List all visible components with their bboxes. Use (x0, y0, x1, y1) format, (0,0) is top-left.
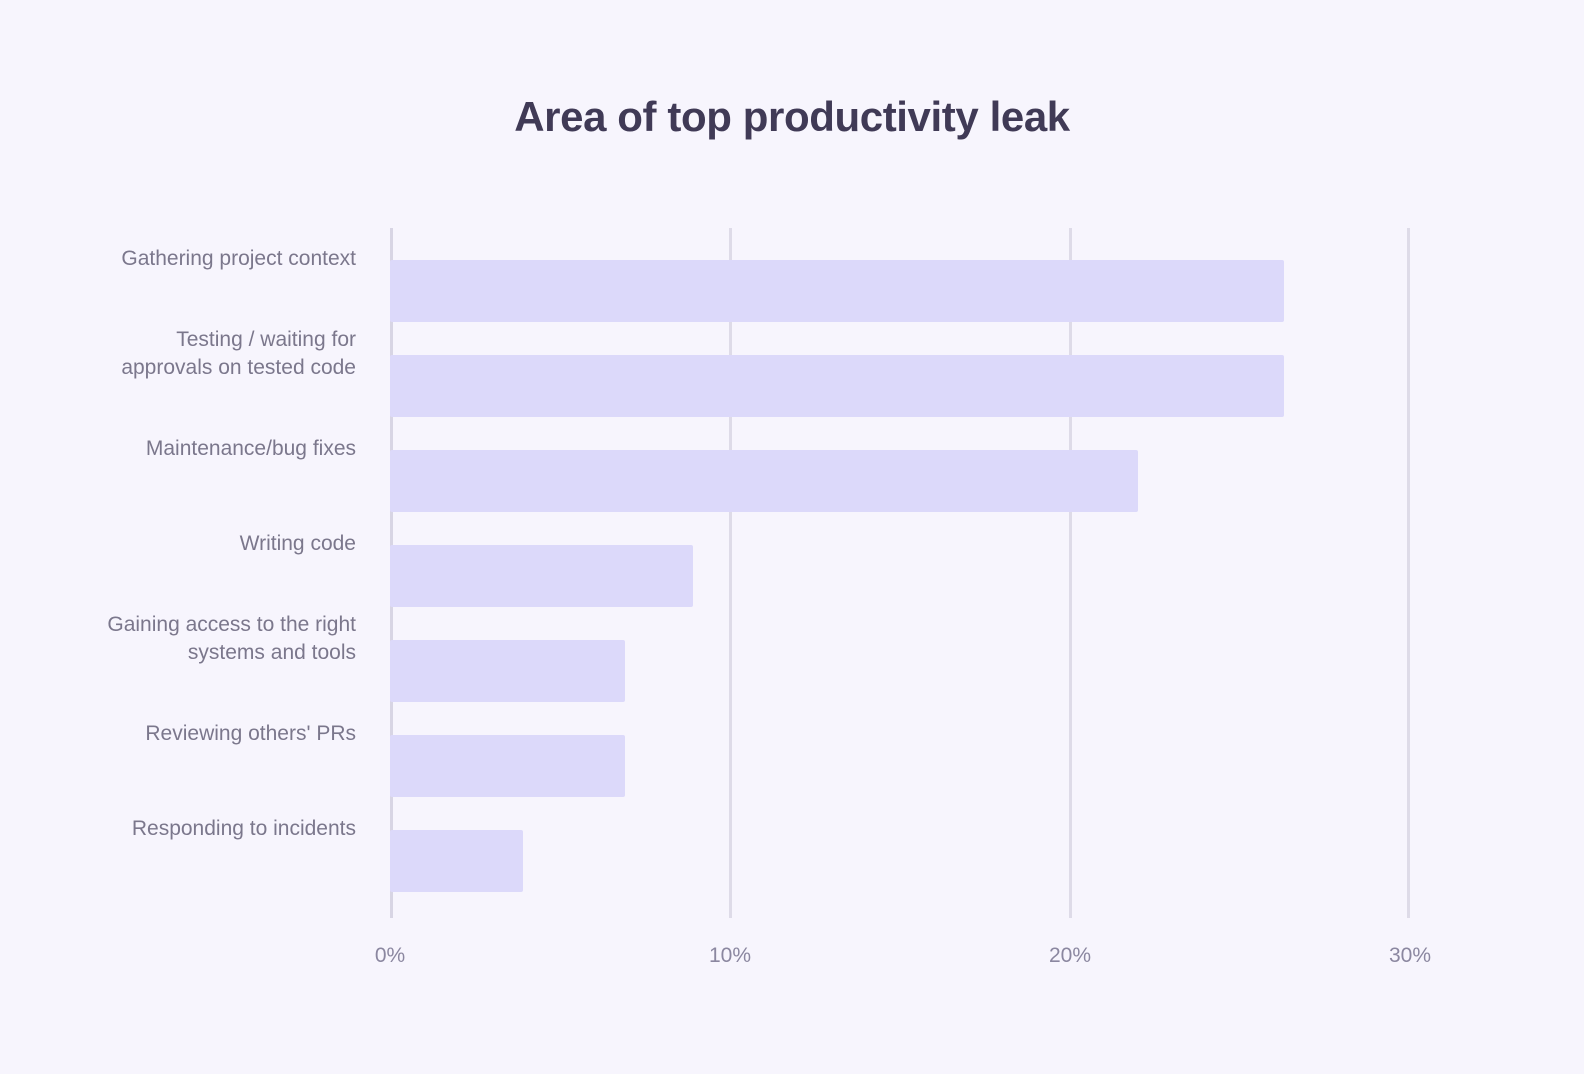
bar-row-2 (390, 450, 1410, 512)
x-axis-tick-labels: 0% 10% 20% 30% (390, 944, 1410, 984)
chart-container: Area of top productivity leak Gathering … (0, 0, 1584, 1074)
y-axis-label-5: Reviewing others' PRs (40, 703, 356, 765)
y-axis-label-3: Writing code (40, 513, 356, 575)
y-axis-label-0: Gathering project context (40, 228, 356, 290)
bar-row-6 (390, 830, 1410, 892)
x-tick-10: 10% (709, 944, 751, 968)
x-tick-0: 0% (375, 944, 405, 968)
bar-gathering-project-context[interactable] (390, 260, 1284, 322)
bar-reviewing-others-prs[interactable] (390, 735, 625, 797)
bar-maintenance-bug-fixes[interactable] (390, 450, 1138, 512)
bar-row-5 (390, 735, 1410, 797)
bar-row-3 (390, 545, 1410, 607)
y-axis-label-4: Gaining access to the right systems and … (40, 608, 356, 670)
bar-row-4 (390, 640, 1410, 702)
chart-title: Area of top productivity leak (0, 92, 1584, 142)
y-axis-label-2: Maintenance/bug fixes (40, 418, 356, 480)
bar-row-1 (390, 355, 1410, 417)
x-tick-20: 20% (1049, 944, 1091, 968)
bar-row-0 (390, 260, 1410, 322)
plot-area (390, 228, 1410, 918)
bar-responding-to-incidents[interactable] (390, 830, 523, 892)
bar-testing-waiting-for-approvals[interactable] (390, 355, 1284, 417)
bar-series (390, 228, 1410, 918)
y-axis-label-6: Responding to incidents (40, 798, 356, 860)
y-axis-category-labels: Gathering project context Testing / wait… (40, 228, 356, 918)
y-axis-label-1: Testing / waiting for approvals on teste… (40, 323, 356, 385)
bar-gaining-access-systems-tools[interactable] (390, 640, 625, 702)
bar-writing-code[interactable] (390, 545, 693, 607)
x-tick-30: 30% (1389, 944, 1431, 968)
